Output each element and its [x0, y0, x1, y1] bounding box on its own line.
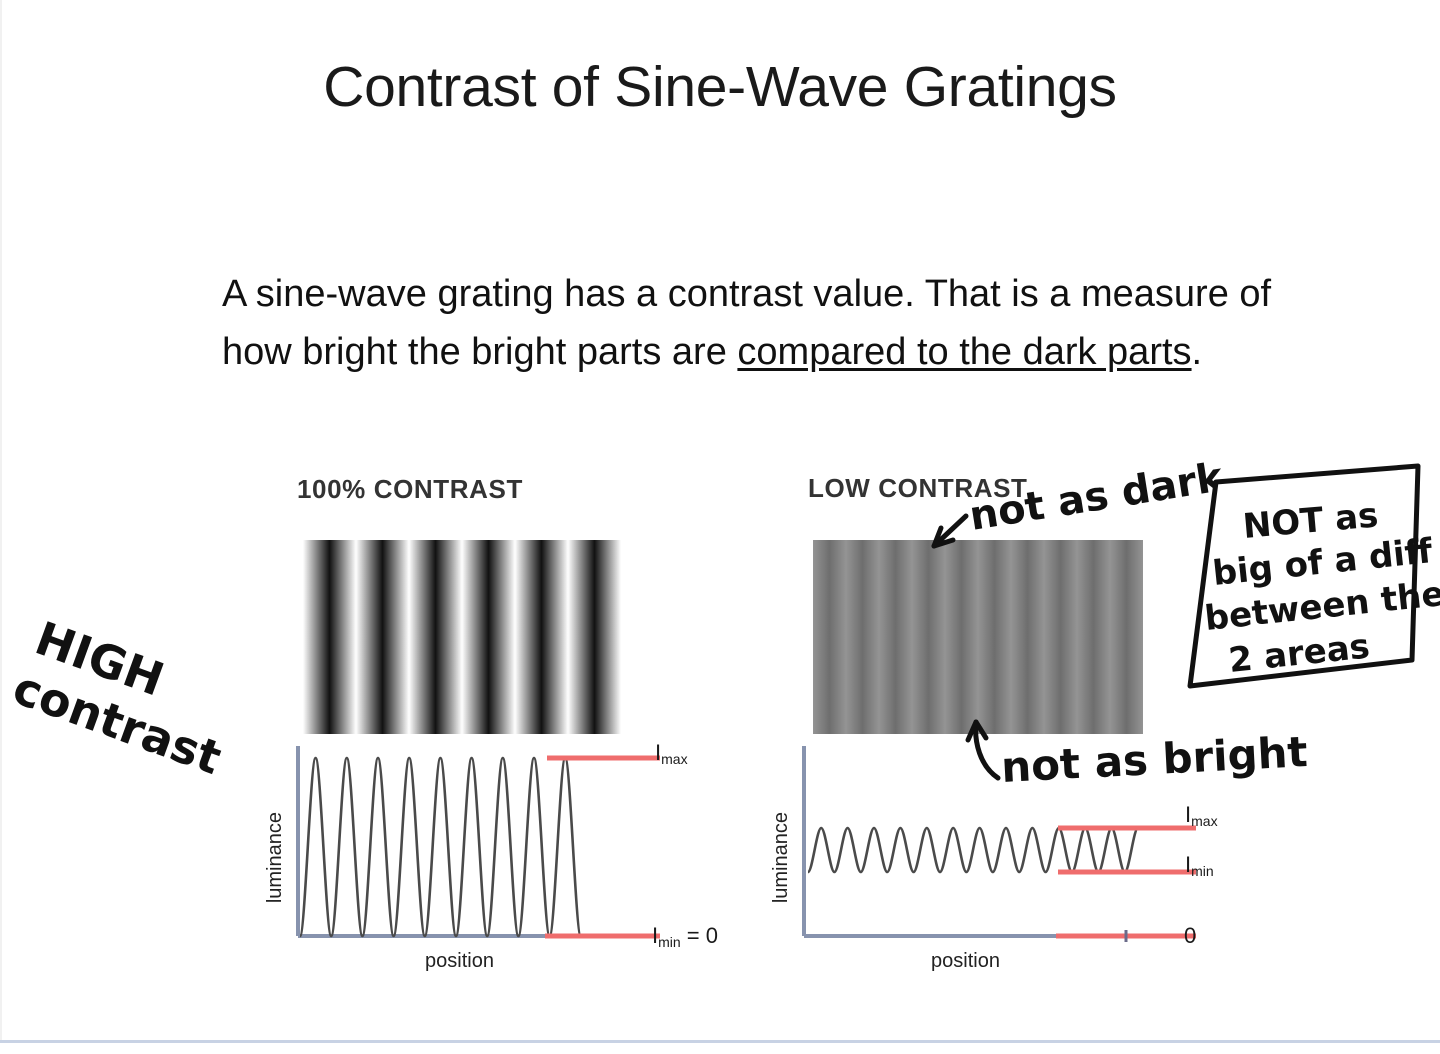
y-axis-label-high: luminance	[264, 812, 287, 903]
body-paragraph: A sine-wave grating has a contrast value…	[222, 266, 1282, 382]
imin-subscript-low: min	[1191, 863, 1214, 879]
annotation-callout-box: NOT as big of a diff between the 2 areas	[1190, 466, 1440, 686]
imax-subscript-low: max	[1191, 813, 1217, 829]
grating-image-low-contrast	[813, 540, 1143, 734]
imin-subscript-high: min	[658, 934, 681, 950]
body-text-part2: .	[1192, 331, 1203, 373]
panel-label-low-contrast: LOW CONTRAST	[808, 473, 1028, 504]
luminance-plot-low-contrast	[768, 740, 1198, 955]
annotation-high-line1: HIGH	[29, 611, 171, 707]
callout-line-3: between the	[1203, 574, 1440, 639]
sine-curve-high	[300, 758, 581, 936]
handwritten-annotation-layer: HIGH contrast not as dark not as bright …	[0, 0, 1440, 1054]
callout-box-outline	[1190, 466, 1418, 686]
body-text-underlined: compared to the dark parts	[737, 331, 1191, 373]
x-axis-label-high: position	[425, 950, 494, 973]
callout-line-2: big of a diff	[1211, 531, 1435, 594]
slide-canvas: Contrast of Sine-Wave Gratings A sine-wa…	[0, 0, 1440, 1054]
callout-line-1: NOT as	[1241, 495, 1380, 547]
tick-label-zero-low: 0	[1184, 923, 1196, 949]
callout-line-4: 2 areas	[1227, 626, 1372, 681]
x-axis-label-low: position	[931, 950, 1000, 973]
bottom-divider	[0, 1040, 1440, 1043]
y-axis-label-low: luminance	[770, 812, 793, 903]
panel-label-high-contrast: 100% CONTRAST	[297, 474, 523, 505]
imax-subscript-high: max	[661, 751, 687, 767]
left-edge-divider	[0, 0, 2, 1042]
annotation-high-contrast: HIGH contrast	[6, 609, 247, 785]
sine-curve-low	[808, 828, 1138, 872]
imin-suffix-high: = 0	[681, 923, 718, 948]
page-title: Contrast of Sine-Wave Gratings	[0, 56, 1440, 119]
tick-label-imin-high: Imin = 0	[652, 923, 718, 949]
tick-label-imin-low: Imin	[1185, 852, 1214, 878]
tick-label-imax-low: Imax	[1185, 802, 1218, 828]
annotation-high-line2: contrast	[6, 660, 228, 785]
grating-image-high-contrast	[303, 540, 621, 734]
tick-label-imax-high: Imax	[655, 740, 688, 766]
luminance-plot-high-contrast	[262, 740, 662, 955]
